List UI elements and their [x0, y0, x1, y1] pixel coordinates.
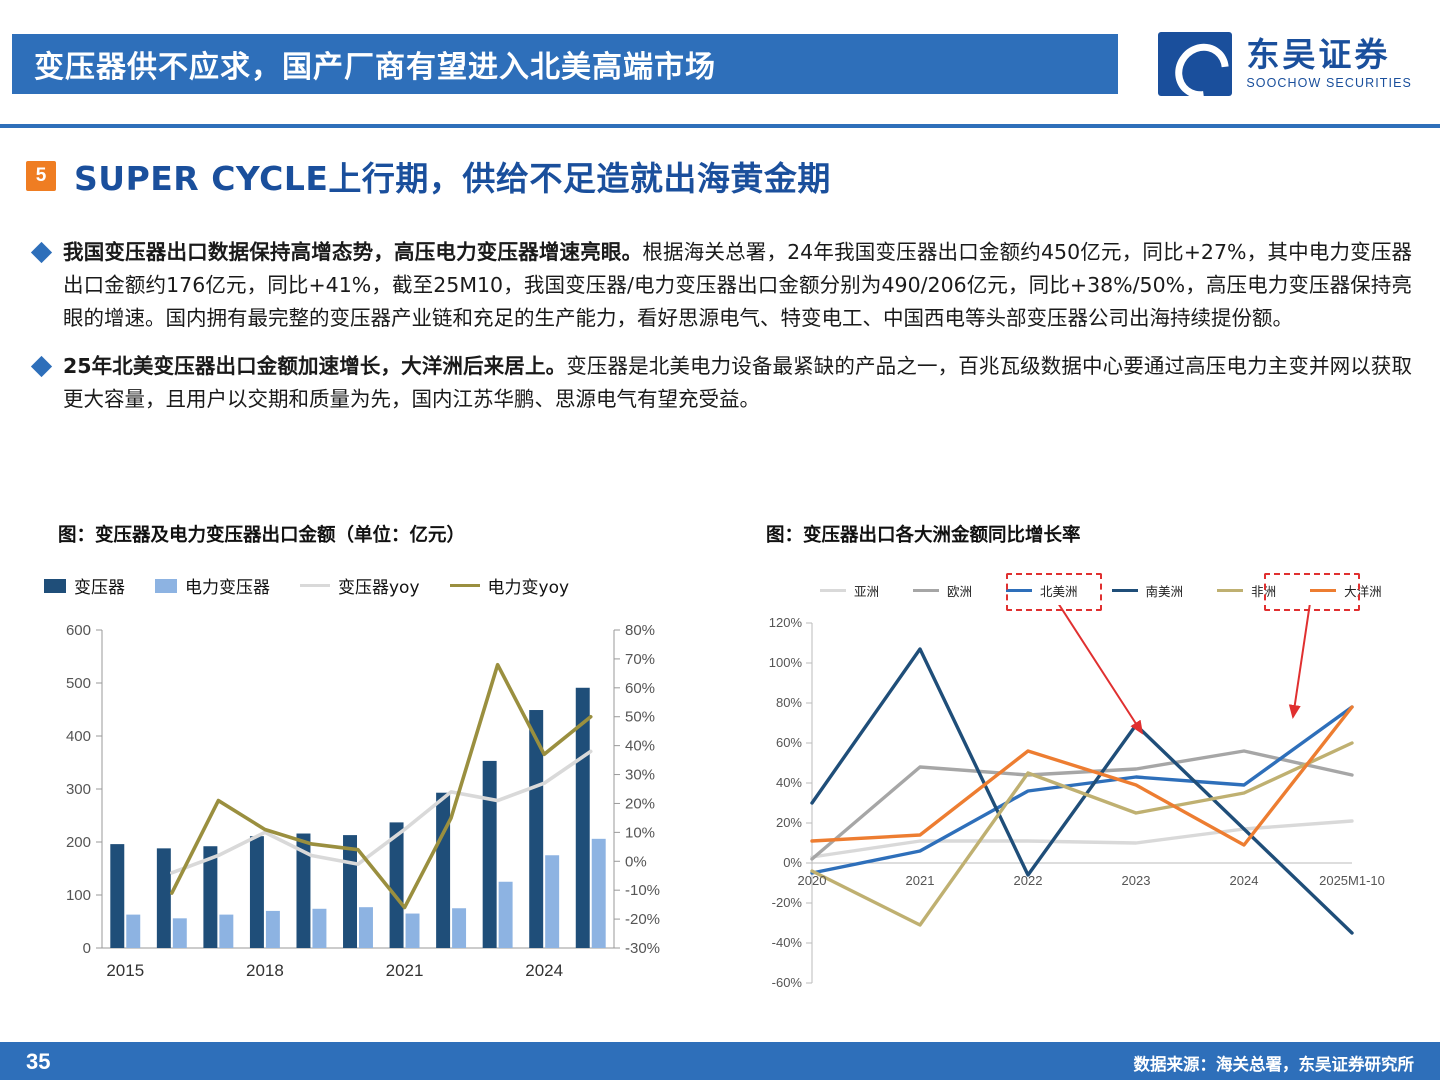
legend-label: 南美洲 [1146, 581, 1184, 600]
svg-text:-30%: -30% [625, 940, 660, 957]
svg-text:20%: 20% [625, 795, 655, 812]
right-chart-title: 图：变压器出口各大洲金额同比增长率 [766, 521, 1081, 547]
legend-line [1112, 589, 1138, 592]
svg-text:2015: 2015 [106, 961, 144, 980]
list-item: 25年北美变压器出口金额加速增长，大洋洲后来居上。变压器是北美电力设备最紧缺的产… [34, 350, 1412, 416]
bullet-text: 我国变压器出口数据保持高增态势，高压电力变压器增速亮眼。根据海关总署，24年我国… [63, 236, 1412, 336]
section-heading: 5 SUPER CYCLE上行期，供给不足造就出海黄金期 [26, 152, 831, 200]
legend-line [913, 589, 939, 592]
svg-text:2021: 2021 [906, 873, 935, 888]
svg-text:30%: 30% [625, 767, 655, 784]
legend-label: 亚洲 [854, 581, 879, 600]
svg-text:-60%: -60% [772, 975, 803, 990]
svg-text:20%: 20% [776, 815, 802, 830]
svg-text:40%: 40% [625, 738, 655, 755]
svg-text:300: 300 [66, 781, 91, 798]
legend-label: 变压器yoy [338, 573, 420, 598]
right-chart-canvas: -60%-40%-20%0%20%40%60%80%100%120%202020… [740, 605, 1430, 1045]
svg-text:-10%: -10% [625, 882, 660, 899]
bullet-lead: 25年北美变压器出口金额加速增长，大洋洲后来居上。 [63, 354, 566, 378]
left-chart-legend: 变压器 电力变压器 变压器yoy 电力变yoy [44, 573, 569, 598]
svg-text:100%: 100% [769, 655, 803, 670]
legend-item-line2: 电力变yoy [450, 573, 570, 598]
svg-text:70%: 70% [625, 651, 655, 668]
legend-line [820, 589, 846, 592]
left-chart-canvas: 0100200300400500600-30%-20%-10%0%10%20%3… [30, 610, 710, 1010]
legend-item-line1: 变压器yoy [300, 573, 420, 598]
legend-item-south-america: 南美洲 [1112, 581, 1184, 600]
legend-label: 电力变yoy [488, 573, 570, 598]
bullet-text: 25年北美变压器出口金额加速增长，大洋洲后来居上。变压器是北美电力设备最紧缺的产… [63, 350, 1412, 416]
page-header: 变压器供不应求，国产厂商有望进入北美高端市场 东吴证券 SOOCHOW SECU… [0, 0, 1440, 124]
diamond-bullet-icon [31, 356, 52, 377]
svg-text:2018: 2018 [246, 961, 284, 980]
svg-text:100: 100 [66, 887, 91, 904]
svg-text:40%: 40% [776, 775, 802, 790]
section-title: SUPER CYCLE上行期，供给不足造就出海黄金期 [74, 152, 831, 200]
svg-text:2024: 2024 [1230, 873, 1259, 888]
svg-text:50%: 50% [625, 709, 655, 726]
legend-item-bar1: 变压器 [44, 573, 125, 598]
svg-text:2024: 2024 [525, 961, 563, 980]
svg-text:2025M1-10: 2025M1-10 [1319, 873, 1385, 888]
legend-swatch [44, 579, 66, 593]
svg-text:2021: 2021 [386, 961, 424, 980]
company-logo: 东吴证券 SOOCHOW SECURITIES [1158, 32, 1412, 96]
svg-text:80%: 80% [625, 622, 655, 639]
legend-item-bar2: 电力变压器 [155, 573, 270, 598]
svg-text:2023: 2023 [1122, 873, 1151, 888]
legend-item-europe: 欧洲 [913, 581, 972, 600]
page-number: 35 [26, 1049, 50, 1075]
logo-mark-icon [1158, 32, 1232, 96]
section-number-badge: 5 [26, 161, 56, 191]
svg-text:200: 200 [66, 834, 91, 851]
svg-text:-20%: -20% [772, 895, 803, 910]
page-title: 变压器供不应求，国产厂商有望进入北美高端市场 [12, 42, 716, 86]
logo-name-en: SOOCHOW SECURITIES [1246, 77, 1412, 91]
svg-text:0%: 0% [625, 853, 647, 870]
header-divider [0, 124, 1440, 128]
svg-text:80%: 80% [776, 695, 802, 710]
bullet-lead: 我国变压器出口数据保持高增态势，高压电力变压器增速亮眼。 [63, 240, 642, 264]
svg-text:2022: 2022 [1014, 873, 1043, 888]
svg-text:-40%: -40% [772, 935, 803, 950]
legend-line [300, 584, 330, 588]
legend-item-asia: 亚洲 [820, 581, 879, 600]
bullet-list: 我国变压器出口数据保持高增态势，高压电力变压器增速亮眼。根据海关总署，24年我国… [34, 236, 1412, 430]
svg-text:120%: 120% [769, 615, 803, 630]
list-item: 我国变压器出口数据保持高增态势，高压电力变压器增速亮眼。根据海关总署，24年我国… [34, 236, 1412, 336]
legend-label: 电力变压器 [185, 573, 270, 598]
source-note: 数据来源：海关总署，东吴证券研究所 [1134, 1051, 1415, 1075]
legend-line [1217, 589, 1243, 592]
svg-text:10%: 10% [625, 824, 655, 841]
logo-name-cn: 东吴证券 [1246, 37, 1412, 73]
svg-text:400: 400 [66, 728, 91, 745]
svg-text:-20%: -20% [625, 911, 660, 928]
legend-label: 欧洲 [947, 581, 972, 600]
legend-swatch [155, 579, 177, 593]
diamond-bullet-icon [31, 242, 52, 263]
svg-text:0%: 0% [783, 855, 802, 870]
svg-text:600: 600 [66, 622, 91, 639]
header-title-bar: 变压器供不应求，国产厂商有望进入北美高端市场 [12, 34, 1118, 94]
left-chart-title: 图：变压器及电力变压器出口金额（单位：亿元） [58, 521, 465, 547]
svg-text:60%: 60% [625, 680, 655, 697]
svg-text:60%: 60% [776, 735, 802, 750]
legend-label: 变压器 [74, 573, 125, 598]
legend-line [450, 584, 480, 588]
svg-text:2020: 2020 [798, 873, 827, 888]
svg-text:0: 0 [83, 940, 91, 957]
svg-text:500: 500 [66, 675, 91, 692]
